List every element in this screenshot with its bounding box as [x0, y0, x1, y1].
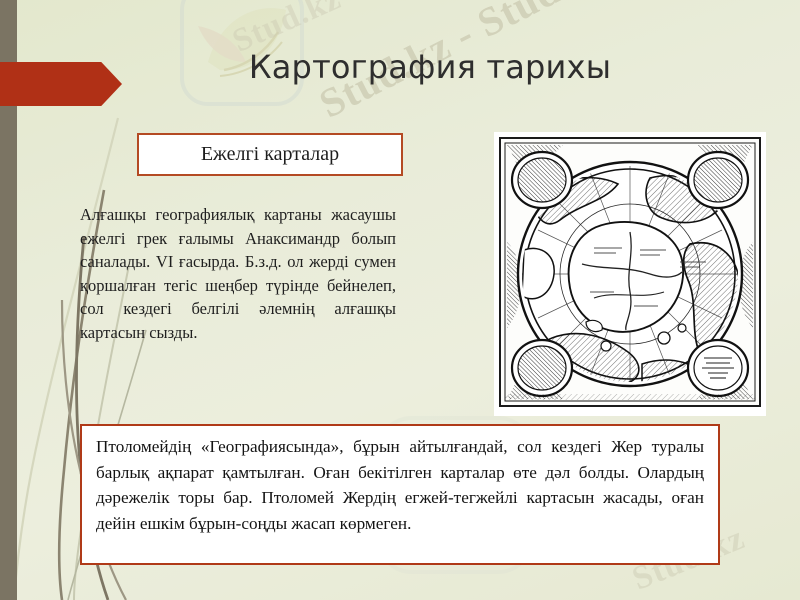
heading-box: Ежелгі карталар	[137, 133, 403, 176]
slide-canvas: Stud.kz Stud.kz - Stud.kz Stud.kz Stud.k…	[0, 0, 800, 600]
bottom-text-box: Птоломейдің «Географиясында», бұрын айты…	[80, 424, 720, 565]
page-title: Картография тарихы	[130, 48, 730, 86]
paragraph-bottom: Птоломейдің «Географиясында», бұрын айты…	[96, 434, 704, 536]
arrow-banner-decoration	[0, 62, 122, 106]
antique-map-image	[494, 132, 766, 416]
antique-map-illustration-icon	[494, 132, 766, 416]
paragraph-top: Алғашқы географиялық картаны жасаушы еже…	[80, 203, 396, 344]
heading-box-label: Ежелгі карталар	[201, 143, 339, 166]
